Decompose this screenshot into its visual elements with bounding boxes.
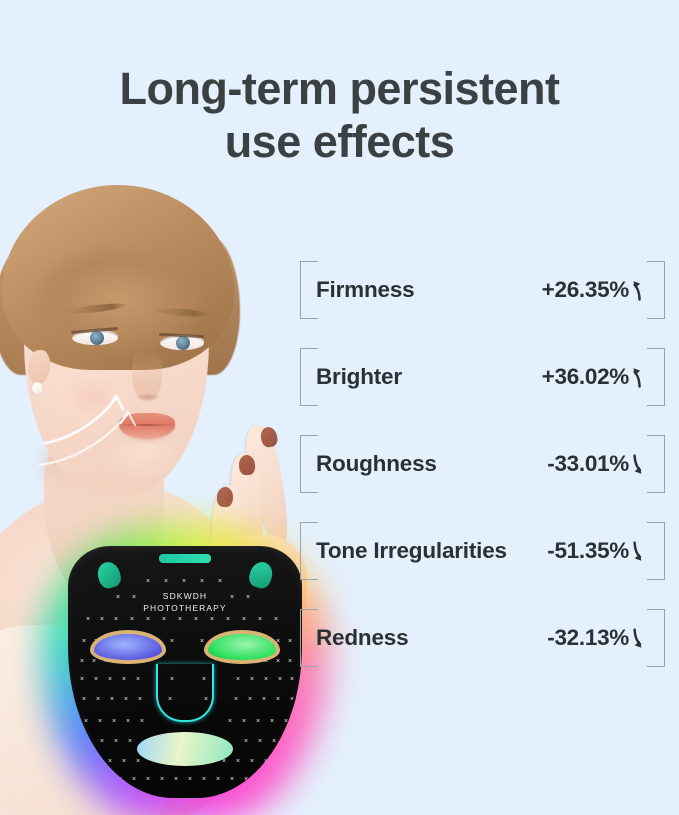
mask-body: ××××××××××××××××××××××××××××××××××××××××… [68,546,302,798]
led-dot: × [288,638,292,645]
led-dot: × [278,676,282,683]
led-dot: × [250,758,254,765]
bracket-left [300,261,318,319]
led-dot: × [272,738,276,745]
metric-value: +26.35% [542,277,647,303]
led-dot: × [286,738,290,745]
led-dot: × [160,776,164,783]
led-dot: × [218,578,222,585]
metric-percent: -32.13% [547,625,629,651]
led-dot: × [182,578,186,585]
bracket-left [300,609,318,667]
led-dot: × [226,616,230,623]
led-dot: × [94,758,98,765]
led-dot: × [122,676,126,683]
bracket-right [647,435,665,493]
metric-value: -33.01% [547,451,647,477]
led-dot: × [248,696,252,703]
led-dot: × [126,718,130,725]
bracket-right [647,522,665,580]
led-dot: × [164,578,168,585]
bracket-left [300,348,318,406]
led-dot: × [98,718,102,725]
led-dot: × [174,776,178,783]
led-dot: × [110,696,114,703]
led-dot: × [242,718,246,725]
led-dot: × [200,578,204,585]
led-dot: × [146,616,150,623]
led-dot: × [236,758,240,765]
led-dot: × [178,616,182,623]
led-dot: × [108,758,112,765]
led-dot: × [100,738,104,745]
fingernail [216,486,233,507]
lifting-arrow-icon [39,365,179,475]
brand-label: SDKWDH PHOTOTHERAPY [68,590,302,615]
metric-value: -32.13% [547,625,647,651]
led-dot: × [94,676,98,683]
bracket-left [300,522,318,580]
led-dot: × [276,696,280,703]
page-title: Long-term persistent use effects [0,62,679,168]
led-dot: × [188,776,192,783]
led-dot: × [244,776,248,783]
marketing-banner: Long-term persistent use effects [0,0,679,815]
led-dot: × [136,758,140,765]
led-dot: × [146,776,150,783]
metric-value: +36.02% [542,364,647,390]
metric-label: Redness [316,625,408,651]
led-dot: × [96,696,100,703]
model-iris-right [176,336,190,350]
metric-row-brighter: Brighter+36.02% [300,349,665,405]
led-dot: × [86,738,90,745]
led-dot: × [290,676,294,683]
led-dot: × [86,616,90,623]
led-dot: × [124,696,128,703]
led-dot: × [262,696,266,703]
led-dot: × [258,616,262,623]
mask-mouth [137,732,233,766]
led-dot: × [250,676,254,683]
metric-row-firmness: Firmness+26.35% [300,262,665,318]
led-dot: × [202,776,206,783]
led-dot: × [288,658,292,665]
led-dot: × [230,776,234,783]
led-dot: × [122,758,126,765]
led-dot: × [118,776,122,783]
metric-percent: +26.35% [542,277,629,303]
metric-percent: +36.02% [542,364,629,390]
led-dot: × [274,616,278,623]
led-dot: × [82,638,86,645]
led-dot: × [140,718,144,725]
metric-label: Roughness [316,451,437,477]
led-dot: × [136,676,140,683]
led-dot: × [114,616,118,623]
led-dot: × [276,658,280,665]
led-dot: × [244,738,248,745]
mask-nose-outline [156,664,214,722]
led-dot: × [84,718,88,725]
led-dot: × [270,718,274,725]
bracket-right [647,261,665,319]
led-dot: × [80,676,84,683]
led-dot: × [170,638,174,645]
led-face-mask: ××××××××××××××××××××××××××××××××××××××××… [60,540,310,815]
led-dot: × [112,718,116,725]
led-dot: × [216,776,220,783]
model-iris-left [90,331,104,345]
led-dot: × [108,676,112,683]
metric-row-roughness: Roughness-33.01% [300,436,665,492]
led-dot: × [146,578,150,585]
metric-percent: -33.01% [547,451,629,477]
mask-eye-right [204,630,280,664]
led-dot: × [256,718,260,725]
led-dot: × [200,638,204,645]
mask-eye-left [90,630,166,664]
led-dot: × [130,616,134,623]
led-dot: × [264,758,268,765]
mask-strap-left [70,696,77,730]
metric-label: Tone Irregularities [316,538,507,564]
led-dot: × [128,738,132,745]
led-dot: × [234,696,238,703]
led-dot: × [258,738,262,745]
led-dot: × [138,696,142,703]
led-dot: × [80,658,84,665]
metric-row-tone-irregularities: Tone Irregularities-51.35% [300,523,665,579]
led-dot: × [284,718,288,725]
led-dot: × [82,696,86,703]
led-dot: × [114,738,118,745]
bracket-right [647,609,665,667]
metric-value: -51.35% [547,538,647,564]
metric-label: Brighter [316,364,402,390]
led-dot: × [100,616,104,623]
bracket-right [647,348,665,406]
led-dot: × [228,718,232,725]
bracket-left [300,435,318,493]
led-dot: × [264,676,268,683]
led-dot: × [92,658,96,665]
led-dot: × [132,776,136,783]
led-dot: × [210,616,214,623]
results-list: Firmness+26.35%Brighter+36.02%Roughness-… [300,262,665,666]
led-dot: × [194,616,198,623]
mask-strap-right [293,696,300,730]
led-dot: × [236,676,240,683]
metric-label: Firmness [316,277,414,303]
metric-row-redness: Redness-32.13% [300,610,665,666]
metric-percent: -51.35% [547,538,629,564]
led-dot: × [242,616,246,623]
led-dot: × [162,616,166,623]
